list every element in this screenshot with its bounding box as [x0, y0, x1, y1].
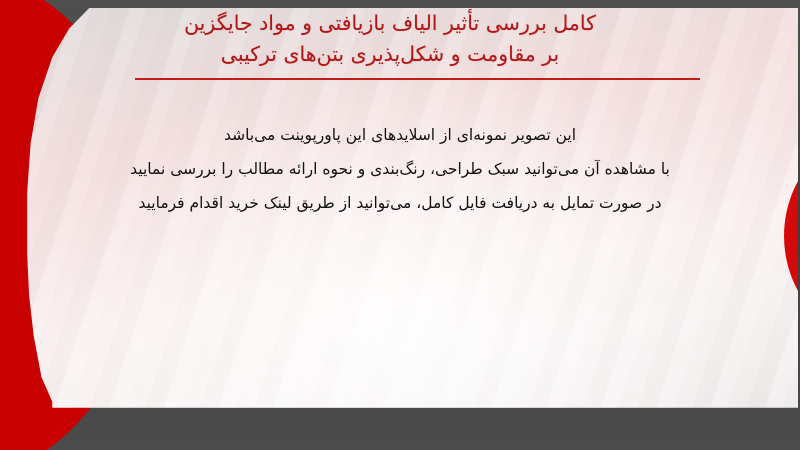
slide-body-line-1: این تصویر نمونه‌ای از اسلایدهای این پاور…: [85, 118, 715, 152]
slide-title-line-1: کامل بررسی تأثیر الیاف بازیافتی و مواد ج…: [80, 8, 700, 39]
slide-body-line-2: با مشاهده آن می‌توانید سبک طراحی، رنگ‌بن…: [85, 152, 715, 186]
slide-body-line-3: در صورت تمایل به دریافت فایل کامل، می‌تو…: [85, 186, 715, 220]
slide-title: کامل بررسی تأثیر الیاف بازیافتی و مواد ج…: [80, 8, 700, 70]
title-underline: [135, 78, 700, 80]
presentation-slide: کامل بررسی تأثیر الیاف بازیافتی و مواد ج…: [0, 0, 800, 450]
right-red-circle: [784, 121, 800, 351]
slide-title-line-2: بر مقاومت و شکل‌پذیری بتن‌های ترکیبی: [80, 39, 700, 70]
slide-body: این تصویر نمونه‌ای از اسلایدهای این پاور…: [85, 118, 715, 220]
